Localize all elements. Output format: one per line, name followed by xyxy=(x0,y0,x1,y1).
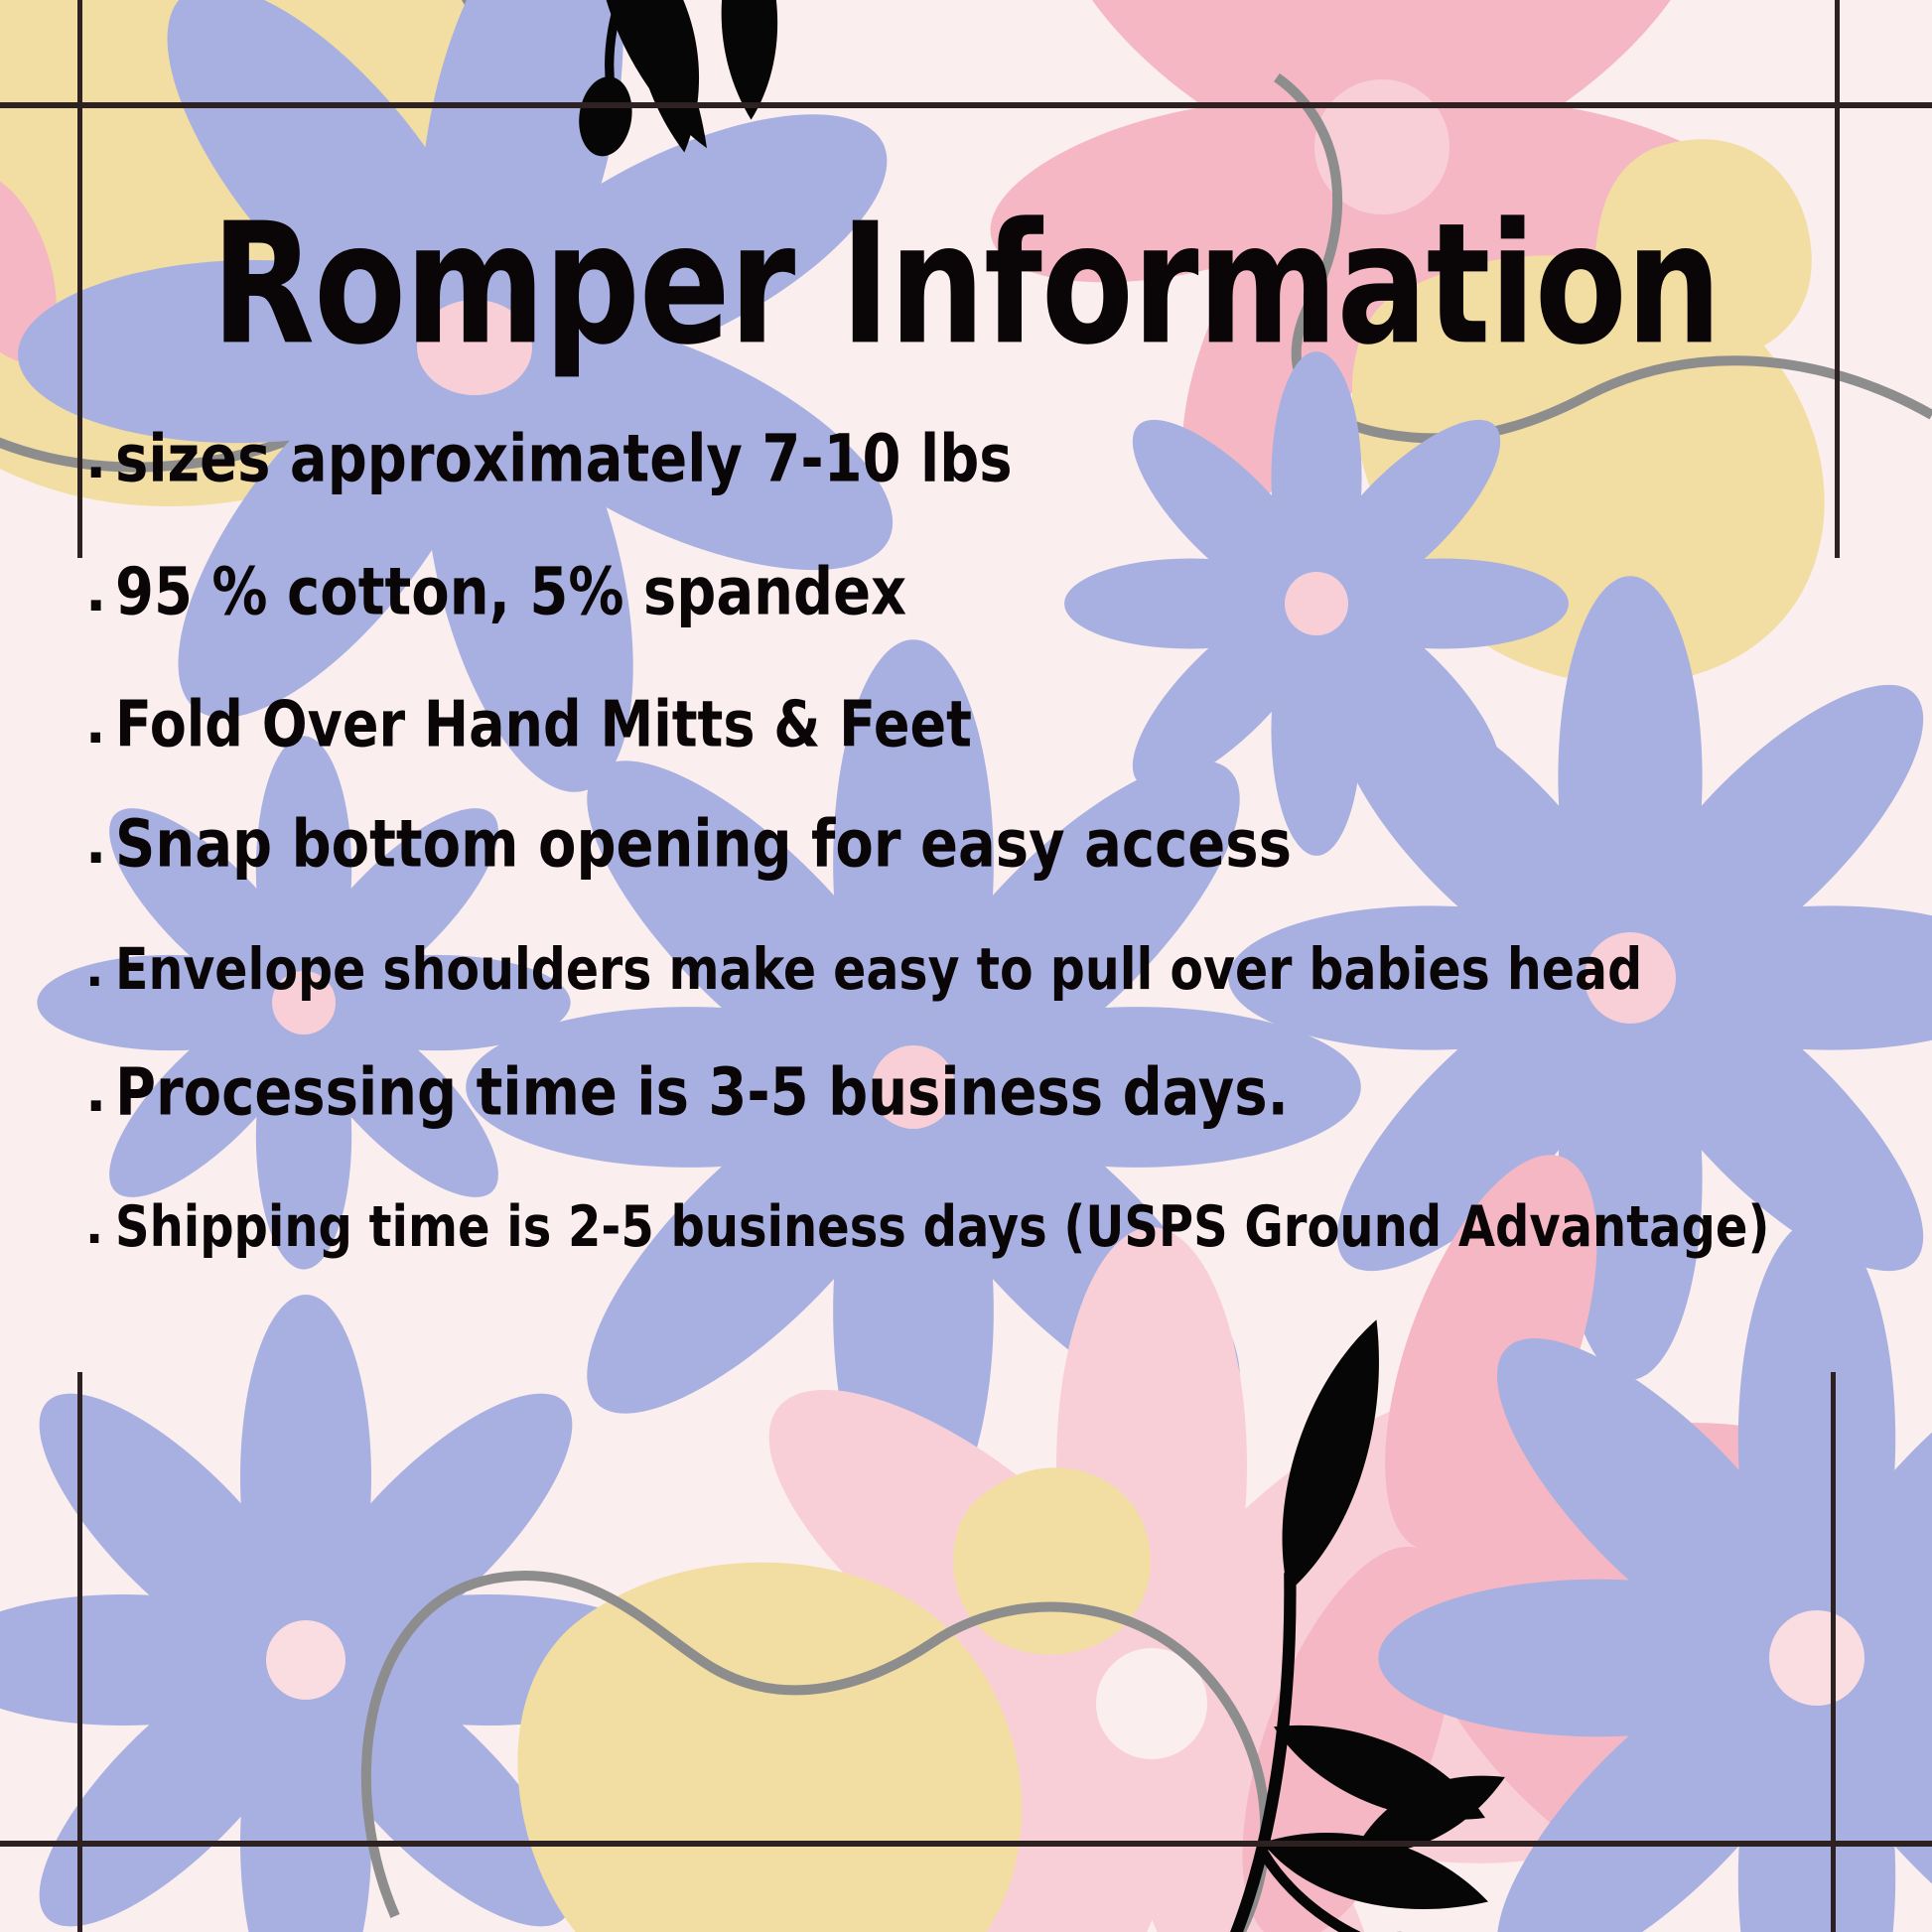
bullet-marker: . xyxy=(85,560,115,624)
bullet-text: Processing time is 3-5 business days. xyxy=(115,1054,1289,1131)
bullet-text: Fold Over Hand Mitts & Feet xyxy=(115,687,972,760)
list-item: . Processing time is 3-5 business days. xyxy=(85,1060,1289,1125)
bullet-marker: . xyxy=(85,693,115,756)
list-item: . 95 % cotton, 5% spandex xyxy=(85,560,906,624)
bullet-marker: . xyxy=(85,941,115,998)
list-item: . Fold Over Hand Mitts & Feet xyxy=(85,693,972,756)
bullet-marker: . xyxy=(85,812,115,877)
bullet-marker: . xyxy=(85,427,115,491)
bullet-marker: . xyxy=(85,1199,115,1255)
bullet-text: Shipping time is 2-5 business days (USPS… xyxy=(115,1194,1769,1260)
list-item: . Snap bottom opening for easy access xyxy=(85,812,1292,877)
bullet-text: Envelope shoulders make easy to pull ove… xyxy=(115,936,1642,1003)
bullet-text: 95 % cotton, 5% spandex xyxy=(115,554,906,630)
bullet-text: Snap bottom opening for easy access xyxy=(115,806,1292,883)
bullet-text: sizes approximately 7-10 lbs xyxy=(115,421,1013,497)
list-item: . sizes approximately 7-10 lbs xyxy=(85,427,1013,491)
page-title: Romper Information xyxy=(19,202,1912,368)
list-item: . Envelope shoulders make easy to pull o… xyxy=(85,941,1642,998)
bullet-marker: . xyxy=(85,1060,115,1125)
list-item: . Shipping time is 2-5 business days (US… xyxy=(85,1199,1769,1255)
content-layer: Romper Information . sizes approximately… xyxy=(0,0,1932,1932)
poster-canvas: Romper Information . sizes approximately… xyxy=(0,0,1932,1932)
